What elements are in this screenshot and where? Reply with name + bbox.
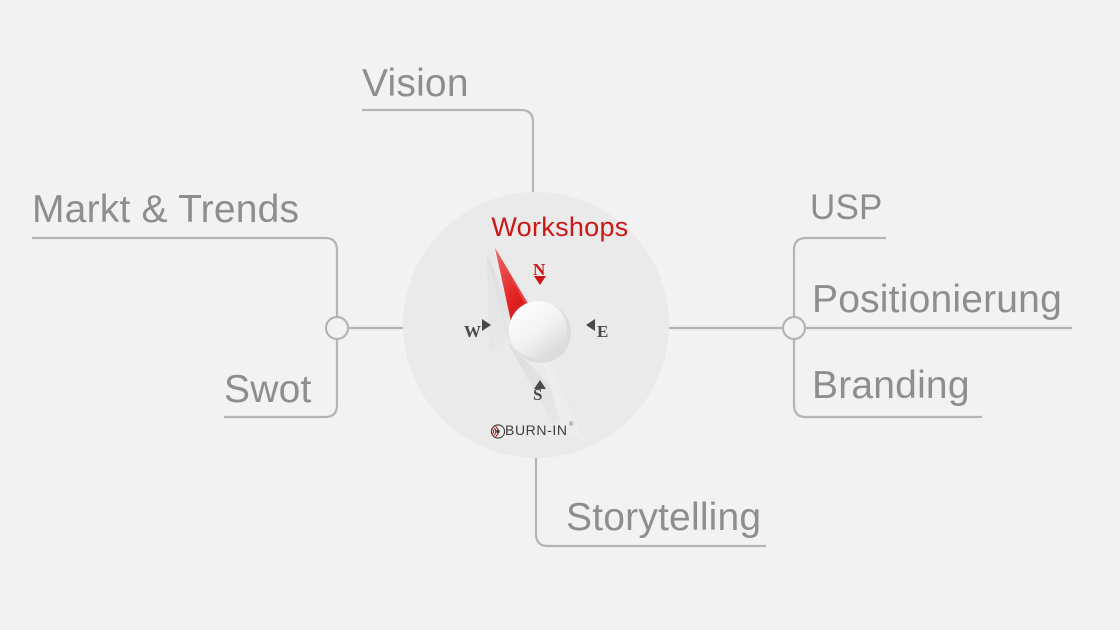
connector-markt-trends (32, 238, 337, 317)
marker-east-triangle (586, 319, 595, 331)
branch-label-storytelling[interactable]: Storytelling (566, 498, 761, 537)
branch-label-branding[interactable]: Branding (812, 366, 970, 405)
burn-in-wordmark: BURN-IN (505, 423, 568, 437)
connector-vision (362, 110, 533, 194)
branch-label-usp[interactable]: USP (810, 190, 883, 225)
radiating-circle-icon (489, 422, 505, 440)
registered-trademark-icon: ® (569, 422, 573, 428)
branch-label-swot[interactable]: Swot (224, 370, 312, 409)
compass-cardinal-south: S (533, 386, 542, 403)
compass-cardinal-west: W (464, 323, 481, 340)
compass-cardinal-east: E (597, 323, 608, 340)
right-hub-node[interactable] (783, 317, 805, 339)
compass-cardinal-north: N (533, 261, 545, 278)
branch-label-positionierung[interactable]: Positionierung (812, 280, 1062, 319)
branch-label-vision[interactable]: Vision (362, 64, 469, 103)
compass-hub (509, 301, 567, 359)
left-hub-node[interactable] (326, 317, 348, 339)
mindmap-canvas: N E S W Workshops BURN-IN ® Vision Markt… (0, 0, 1120, 630)
branch-label-markt-trends[interactable]: Markt & Trends (32, 190, 299, 229)
burn-in-logo: BURN-IN ® (489, 422, 581, 442)
